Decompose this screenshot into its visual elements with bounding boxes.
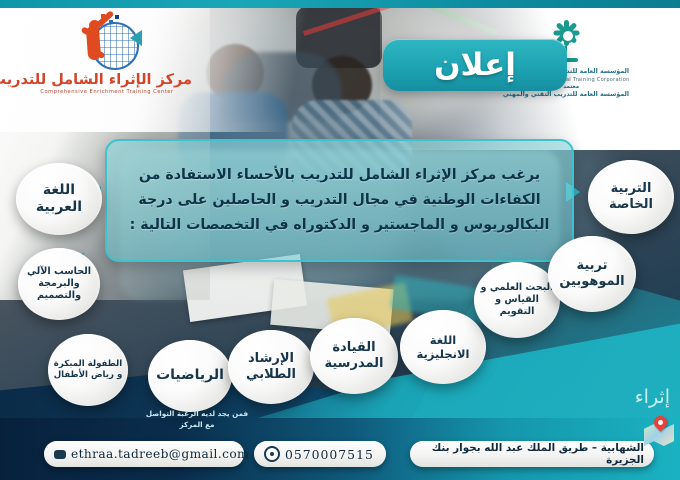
center-name-arabic: مركز الإثراء الشامل للتدريب <box>22 72 192 88</box>
announcement-text-box: يرغب مركز الإثراء الشامل للتدريب بالأحسا… <box>105 139 574 262</box>
top-teal-strip <box>0 0 680 8</box>
phone-text: 0570007515 <box>285 447 374 462</box>
specialty-bubble-english-language: اللغة الانجليزية <box>400 310 486 384</box>
announcement-banner: إعلان <box>383 39 567 91</box>
specialty-bubble-school-leadership: القيادة المدرسية <box>310 318 398 394</box>
phone-pill[interactable]: 0570007515 <box>254 441 386 467</box>
accredited-by: المؤسسة العامة للتدريب التقني والمهني <box>466 91 666 100</box>
advertisement-poster: مركز الإثراء الشامل للتدريب Comprehensiv… <box>0 0 680 480</box>
announcement-label: إعلان <box>434 47 516 83</box>
announcement-body-text: يرغب مركز الإثراء الشامل للتدريب بالأحسا… <box>107 163 572 239</box>
specialty-bubble-mathematics: الرياضيات <box>148 340 232 412</box>
specialty-bubble-student-counseling: الإرشاد الطلابي <box>228 330 314 404</box>
specialty-bubble-special-education: التربية الخاصة <box>588 160 674 234</box>
address-text: الشهابية – طريق الملك عبد الله بجوار بنك… <box>420 442 644 466</box>
contact-note: فمن يجد لديه الرغبة التواصل مع المركز <box>142 409 252 431</box>
specialty-bubble-computer-programming: الحاسب الآلي والبرمجة والتصميم <box>18 248 100 320</box>
center-name-english: Comprehensive Enrichment Training Center <box>22 89 192 95</box>
sparkle-icon <box>109 20 113 24</box>
sparkle-icon <box>115 15 119 19</box>
email-text: ethraa.tadreeb@gmail.com <box>71 447 249 461</box>
center-logo: مركز الإثراء الشامل للتدريب Comprehensiv… <box>22 14 192 95</box>
email-pill[interactable]: ethraa.tadreeb@gmail.com <box>44 441 244 467</box>
sparkle-icon <box>101 14 105 18</box>
specialty-bubble-gifted-education: تربية الموهوبين <box>548 236 636 312</box>
phone-icon <box>264 446 280 462</box>
envelope-icon <box>54 450 66 459</box>
specialty-bubble-arabic-language: اللغة العربية <box>16 163 102 235</box>
burst-center-icon <box>561 29 575 43</box>
specialty-bubble-early-childhood: الطفولة المبكرة و رياض الأطفال <box>48 334 128 406</box>
address-pill[interactable]: الشهابية – طريق الملك عبد الله بجوار بنك… <box>410 441 654 467</box>
arrow-icon <box>130 30 142 46</box>
